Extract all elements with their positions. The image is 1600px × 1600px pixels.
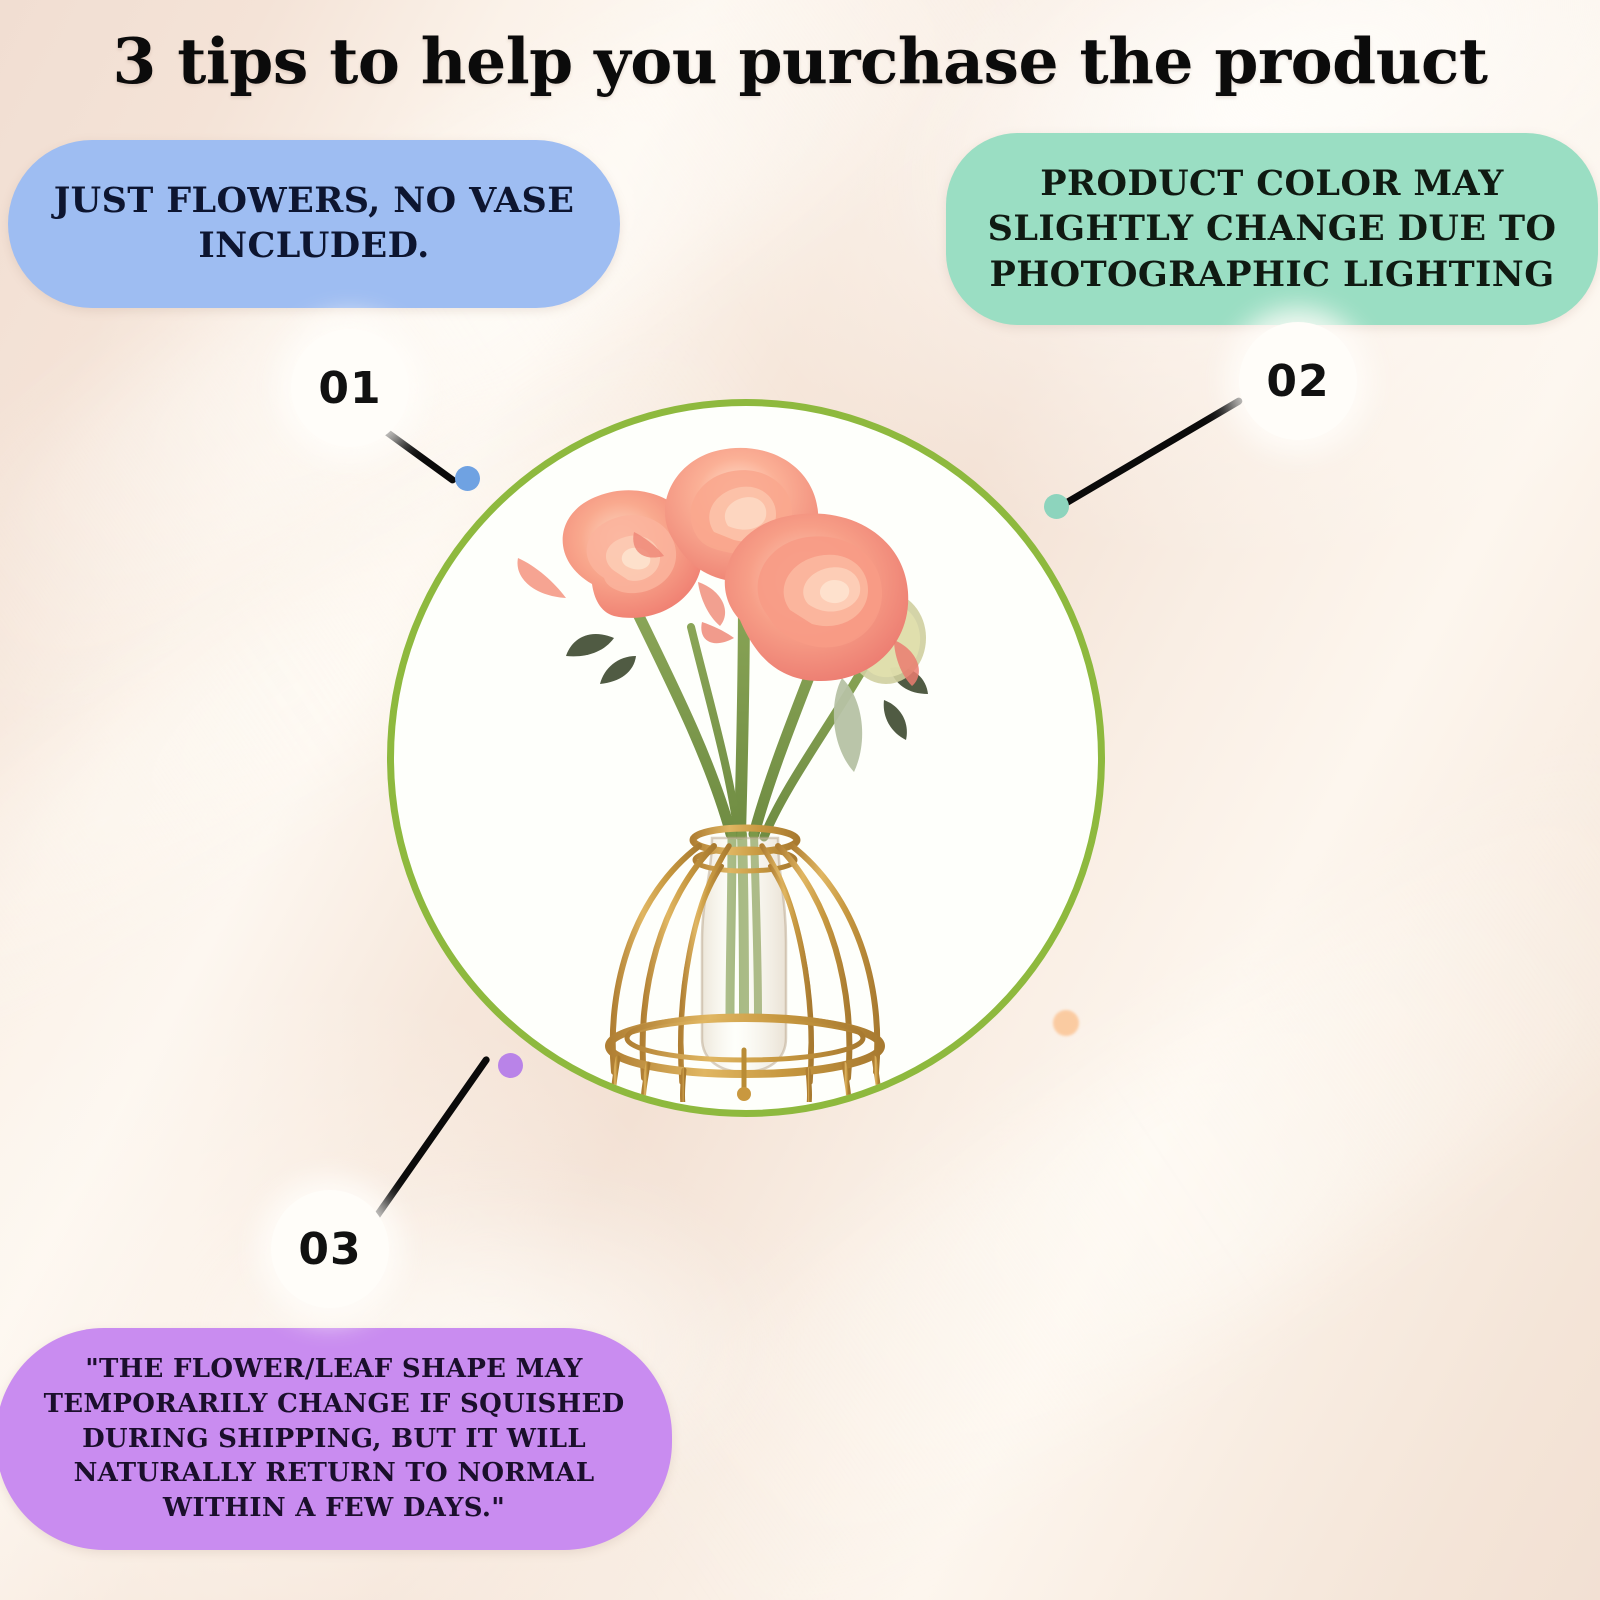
decorative-accent-dot [1053, 1010, 1079, 1036]
tip-callout-01: JUST FLOWERS, NO VASE INCLUDED. [8, 140, 620, 308]
page-title: 3 tips to help you purchase the product [0, 24, 1600, 98]
connector-dot-02 [1044, 494, 1069, 519]
tip-number-badge-03: 03 [271, 1190, 389, 1308]
tip-number-badge-02: 02 [1239, 322, 1357, 440]
connector-dot-03 [498, 1053, 523, 1078]
tip-number-badge-01: 01 [291, 329, 409, 447]
tip-callout-03-text: "THE FLOWER/LEAF SHAPE MAY TEMPORARILY C… [40, 1352, 628, 1526]
tip-callout-02-text: PRODUCT COLOR MAY SLIGHTLY CHANGE DUE TO… [972, 161, 1572, 298]
rose-bouquet-illustration [486, 442, 1006, 1102]
tip-callout-02: PRODUCT COLOR MAY SLIGHTLY CHANGE DUE TO… [946, 133, 1598, 325]
infographic-canvas: 3 tips to help you purchase the product … [0, 0, 1600, 1600]
connector-line-02 [1058, 396, 1243, 509]
connector-line-03 [363, 1055, 491, 1233]
tip-callout-01-text: JUST FLOWERS, NO VASE INCLUDED. [42, 179, 586, 269]
connector-dot-01 [455, 466, 480, 491]
product-image-circle [387, 399, 1105, 1117]
tip-callout-03: "THE FLOWER/LEAF SHAPE MAY TEMPORARILY C… [0, 1328, 672, 1550]
